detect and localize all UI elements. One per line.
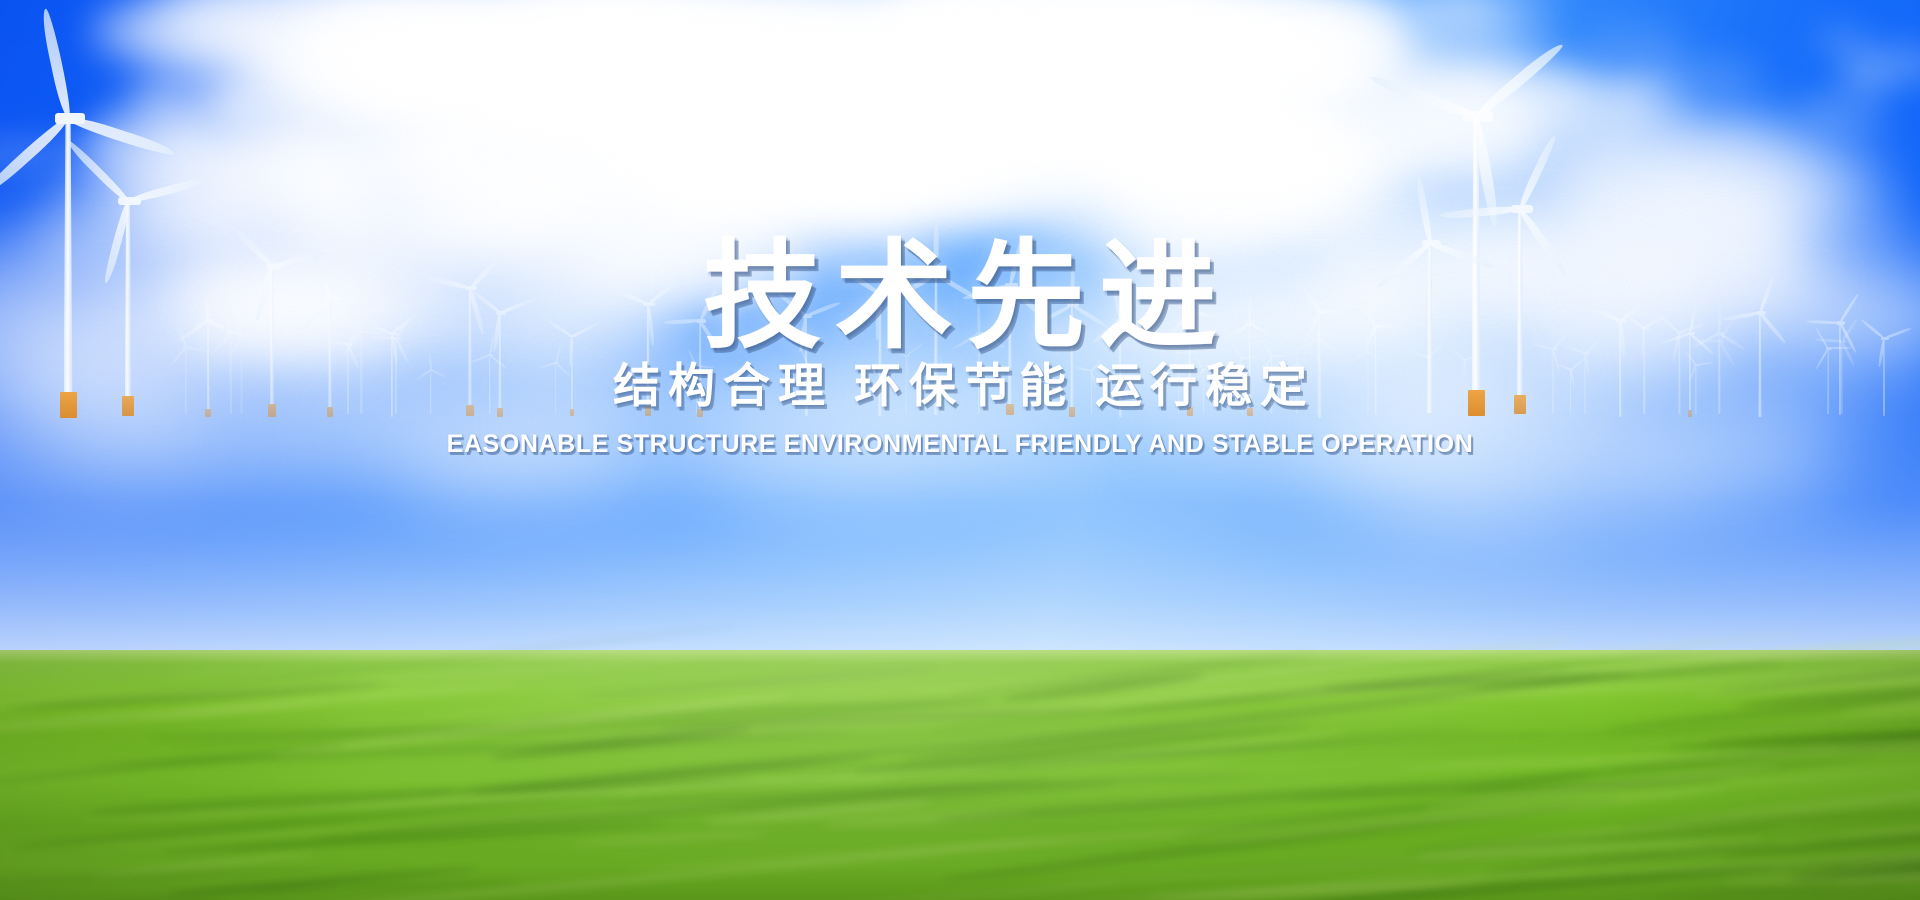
turbine-base (1006, 404, 1013, 415)
turbine-blade (1280, 364, 1297, 374)
turbine-base (645, 406, 651, 416)
turbine-blade (555, 344, 561, 363)
turbine-base (1688, 410, 1693, 417)
grass-field (0, 650, 1920, 900)
turbine-base (1187, 407, 1193, 416)
turbine-blade (841, 267, 882, 295)
turbine-blade (1368, 351, 1389, 365)
turbine-blade (1719, 341, 1735, 366)
turbine-blade (1008, 237, 1025, 285)
turbine-blade (1449, 346, 1466, 360)
turbine-blade (313, 254, 332, 298)
turbine-base (1514, 395, 1526, 414)
turbine-blade (685, 365, 697, 381)
turbine-blade (935, 273, 983, 304)
turbine-blade (1586, 306, 1620, 323)
turbine-blade (1861, 319, 1885, 340)
turbine-blade (1195, 369, 1204, 384)
turbine-blade (1296, 278, 1321, 313)
turbine-blade (609, 286, 649, 306)
turbine-blade (1357, 298, 1377, 328)
turbine-blade (430, 369, 446, 377)
turbine-blade (1429, 240, 1497, 270)
turbine-blade (1119, 319, 1154, 335)
turbine-blade (489, 355, 507, 371)
turbine-blade (1296, 364, 1313, 375)
turbine-blade (1219, 323, 1250, 343)
turbine-blade (776, 291, 807, 317)
turbine-blade (347, 344, 360, 369)
turbine-blade (1472, 40, 1565, 120)
turbine-blade (1815, 348, 1829, 370)
turbine-blade (1070, 263, 1075, 305)
turbine-blade (1165, 334, 1180, 354)
turbine-blade (1415, 174, 1434, 244)
turbine-blade (1883, 326, 1911, 339)
turbine-blade (699, 320, 722, 352)
turbine-blade (1008, 283, 1046, 320)
turbine-blade (1585, 338, 1604, 354)
turbine-blade (169, 346, 187, 367)
turbine-blade (1408, 349, 1429, 358)
turbine-blade (886, 346, 907, 357)
turbine-base (497, 408, 503, 417)
turbine-blade (1759, 312, 1787, 344)
turbine-blade (546, 318, 573, 337)
turbine-base (60, 392, 77, 418)
turbine-blade (933, 223, 938, 275)
turbine-blade (1112, 285, 1122, 321)
turbine-blade (555, 362, 570, 377)
turbine-blade (1190, 310, 1229, 321)
turbine-blade (231, 225, 274, 269)
turbine-blade (225, 335, 243, 361)
turbine-blade (1516, 134, 1557, 210)
turbine-blade (978, 333, 1006, 350)
turbine-base (1069, 407, 1075, 417)
hero-banner: 技术先进 结构合理 环保节能 运行稳定 EASONABLE STRUCTURE … (0, 0, 1920, 900)
turbine-blade (242, 335, 271, 339)
turbine-blade (469, 354, 490, 364)
turbine-blade (1570, 358, 1583, 370)
turbine-blade (499, 297, 536, 315)
turbine-blade (417, 369, 431, 380)
turbine-blade (698, 288, 717, 322)
turbine-blade (468, 252, 504, 290)
turbine-blade (1272, 354, 1294, 356)
turbine-blade (186, 346, 211, 353)
turbine-blade (953, 333, 980, 351)
turbine-blade (1439, 205, 1520, 220)
turbine-blade (647, 277, 683, 305)
turbine-blade (1696, 361, 1714, 366)
turbine-blade (0, 114, 72, 197)
turbine-blade (571, 321, 599, 337)
turbine-blade (1530, 341, 1554, 350)
turbine-blade (1194, 355, 1204, 370)
turbine-base (697, 409, 702, 417)
turbine-blade (1203, 368, 1220, 370)
turbine-blade (1233, 358, 1243, 378)
turbine-blade (1229, 341, 1243, 359)
grass-vignette (0, 650, 1920, 900)
turbine-blade (1248, 290, 1251, 324)
turbine-base (268, 404, 277, 417)
turbine-blade (688, 349, 697, 366)
turbine-blade (537, 362, 556, 369)
turbine-blade (330, 295, 375, 307)
turbine-blade (977, 304, 981, 334)
wind-turbine-farm (0, 0, 1920, 660)
turbine-blade (805, 301, 841, 318)
turbine-blade (943, 370, 959, 377)
turbine-blade (939, 354, 944, 370)
turbine-blade (1316, 311, 1319, 339)
turbine-blade (1806, 320, 1840, 325)
turbine-blade (1369, 73, 1478, 122)
turbine-blade (39, 7, 73, 119)
turbine-blade (906, 342, 925, 357)
turbine-blade (428, 353, 431, 370)
turbine-blade (423, 274, 471, 290)
turbine-blade (1564, 345, 1586, 355)
turbine-blade (1347, 351, 1369, 364)
turbine-base (327, 407, 334, 417)
turbine-blade (1718, 304, 1722, 334)
turbine-blade (299, 296, 331, 333)
turbine-blade (127, 175, 211, 205)
turbine-blade (1376, 324, 1409, 328)
turbine-blade (1517, 207, 1570, 278)
turbine-blade (664, 319, 700, 325)
turbine-base (466, 405, 473, 416)
turbine-blade (1071, 303, 1109, 328)
turbine-base (570, 409, 575, 416)
turbine-blade (1249, 323, 1280, 343)
turbine-blade (1375, 240, 1433, 290)
turbine-blade (1260, 355, 1272, 375)
turbine-blade (1091, 320, 1121, 346)
turbine-base (1247, 408, 1252, 416)
turbine-blade (1320, 308, 1360, 314)
turbine-blade (1175, 275, 1192, 313)
turbine-blade (203, 285, 210, 321)
turbine-blade (1721, 311, 1760, 322)
turbine-base (1468, 390, 1485, 416)
turbine-blade (807, 363, 826, 368)
turbine-blade (65, 138, 131, 204)
turbine-base (122, 396, 135, 416)
turbine-blade (1075, 366, 1091, 371)
turbine-blade (1260, 336, 1273, 356)
turbine-blade (1758, 276, 1775, 314)
turbine-blade (1091, 358, 1103, 371)
turbine-blade (1168, 353, 1180, 374)
turbine-blade (1815, 338, 1842, 342)
turbine-base (205, 409, 210, 417)
